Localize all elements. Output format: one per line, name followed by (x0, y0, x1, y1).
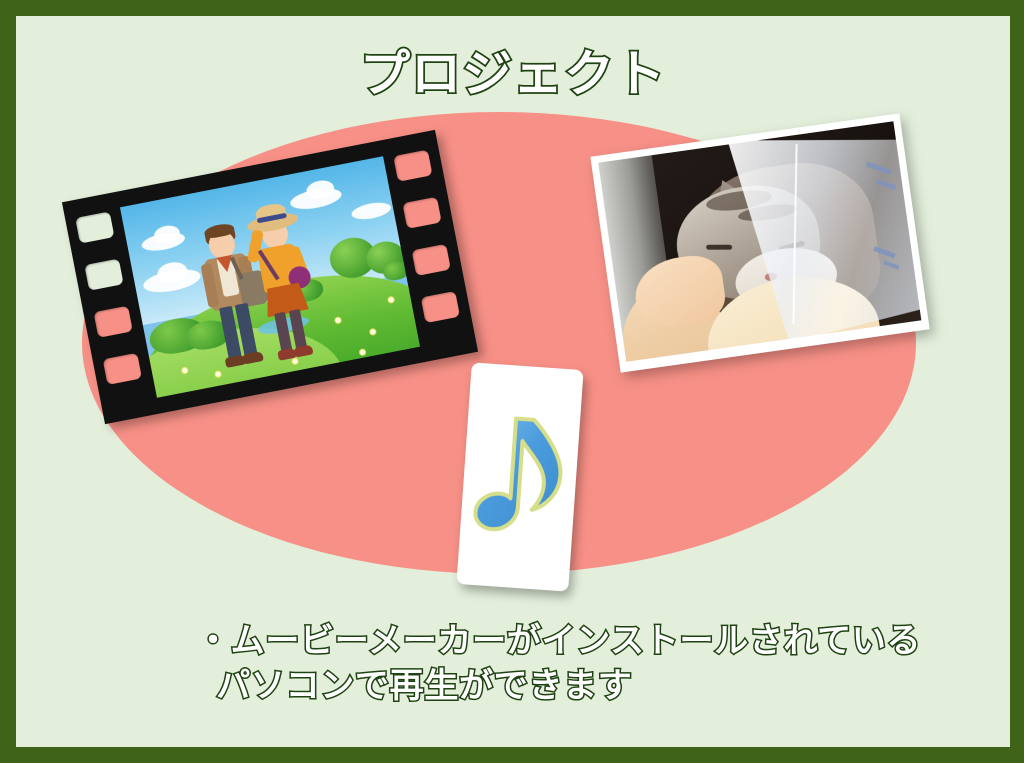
slide-canvas: プロジェクト (0, 0, 1024, 763)
slide-content-area: プロジェクト (16, 16, 1010, 747)
cat-ear-shape (780, 164, 816, 192)
music-file-card[interactable] (456, 362, 583, 591)
music-note-icon (456, 362, 583, 591)
cat-eye-shape (707, 245, 733, 250)
cat-photo-image[interactable] (590, 113, 929, 372)
leg-shape (289, 309, 307, 350)
shoe-shape (294, 344, 314, 357)
page-title: プロジェクト (16, 48, 1010, 101)
shoe-shape (242, 351, 264, 365)
cat-photo-canvas (598, 121, 921, 362)
bullet-description-text: ・ムービーメーカーがインストールされている パソコンで再生ができます (196, 619, 956, 709)
